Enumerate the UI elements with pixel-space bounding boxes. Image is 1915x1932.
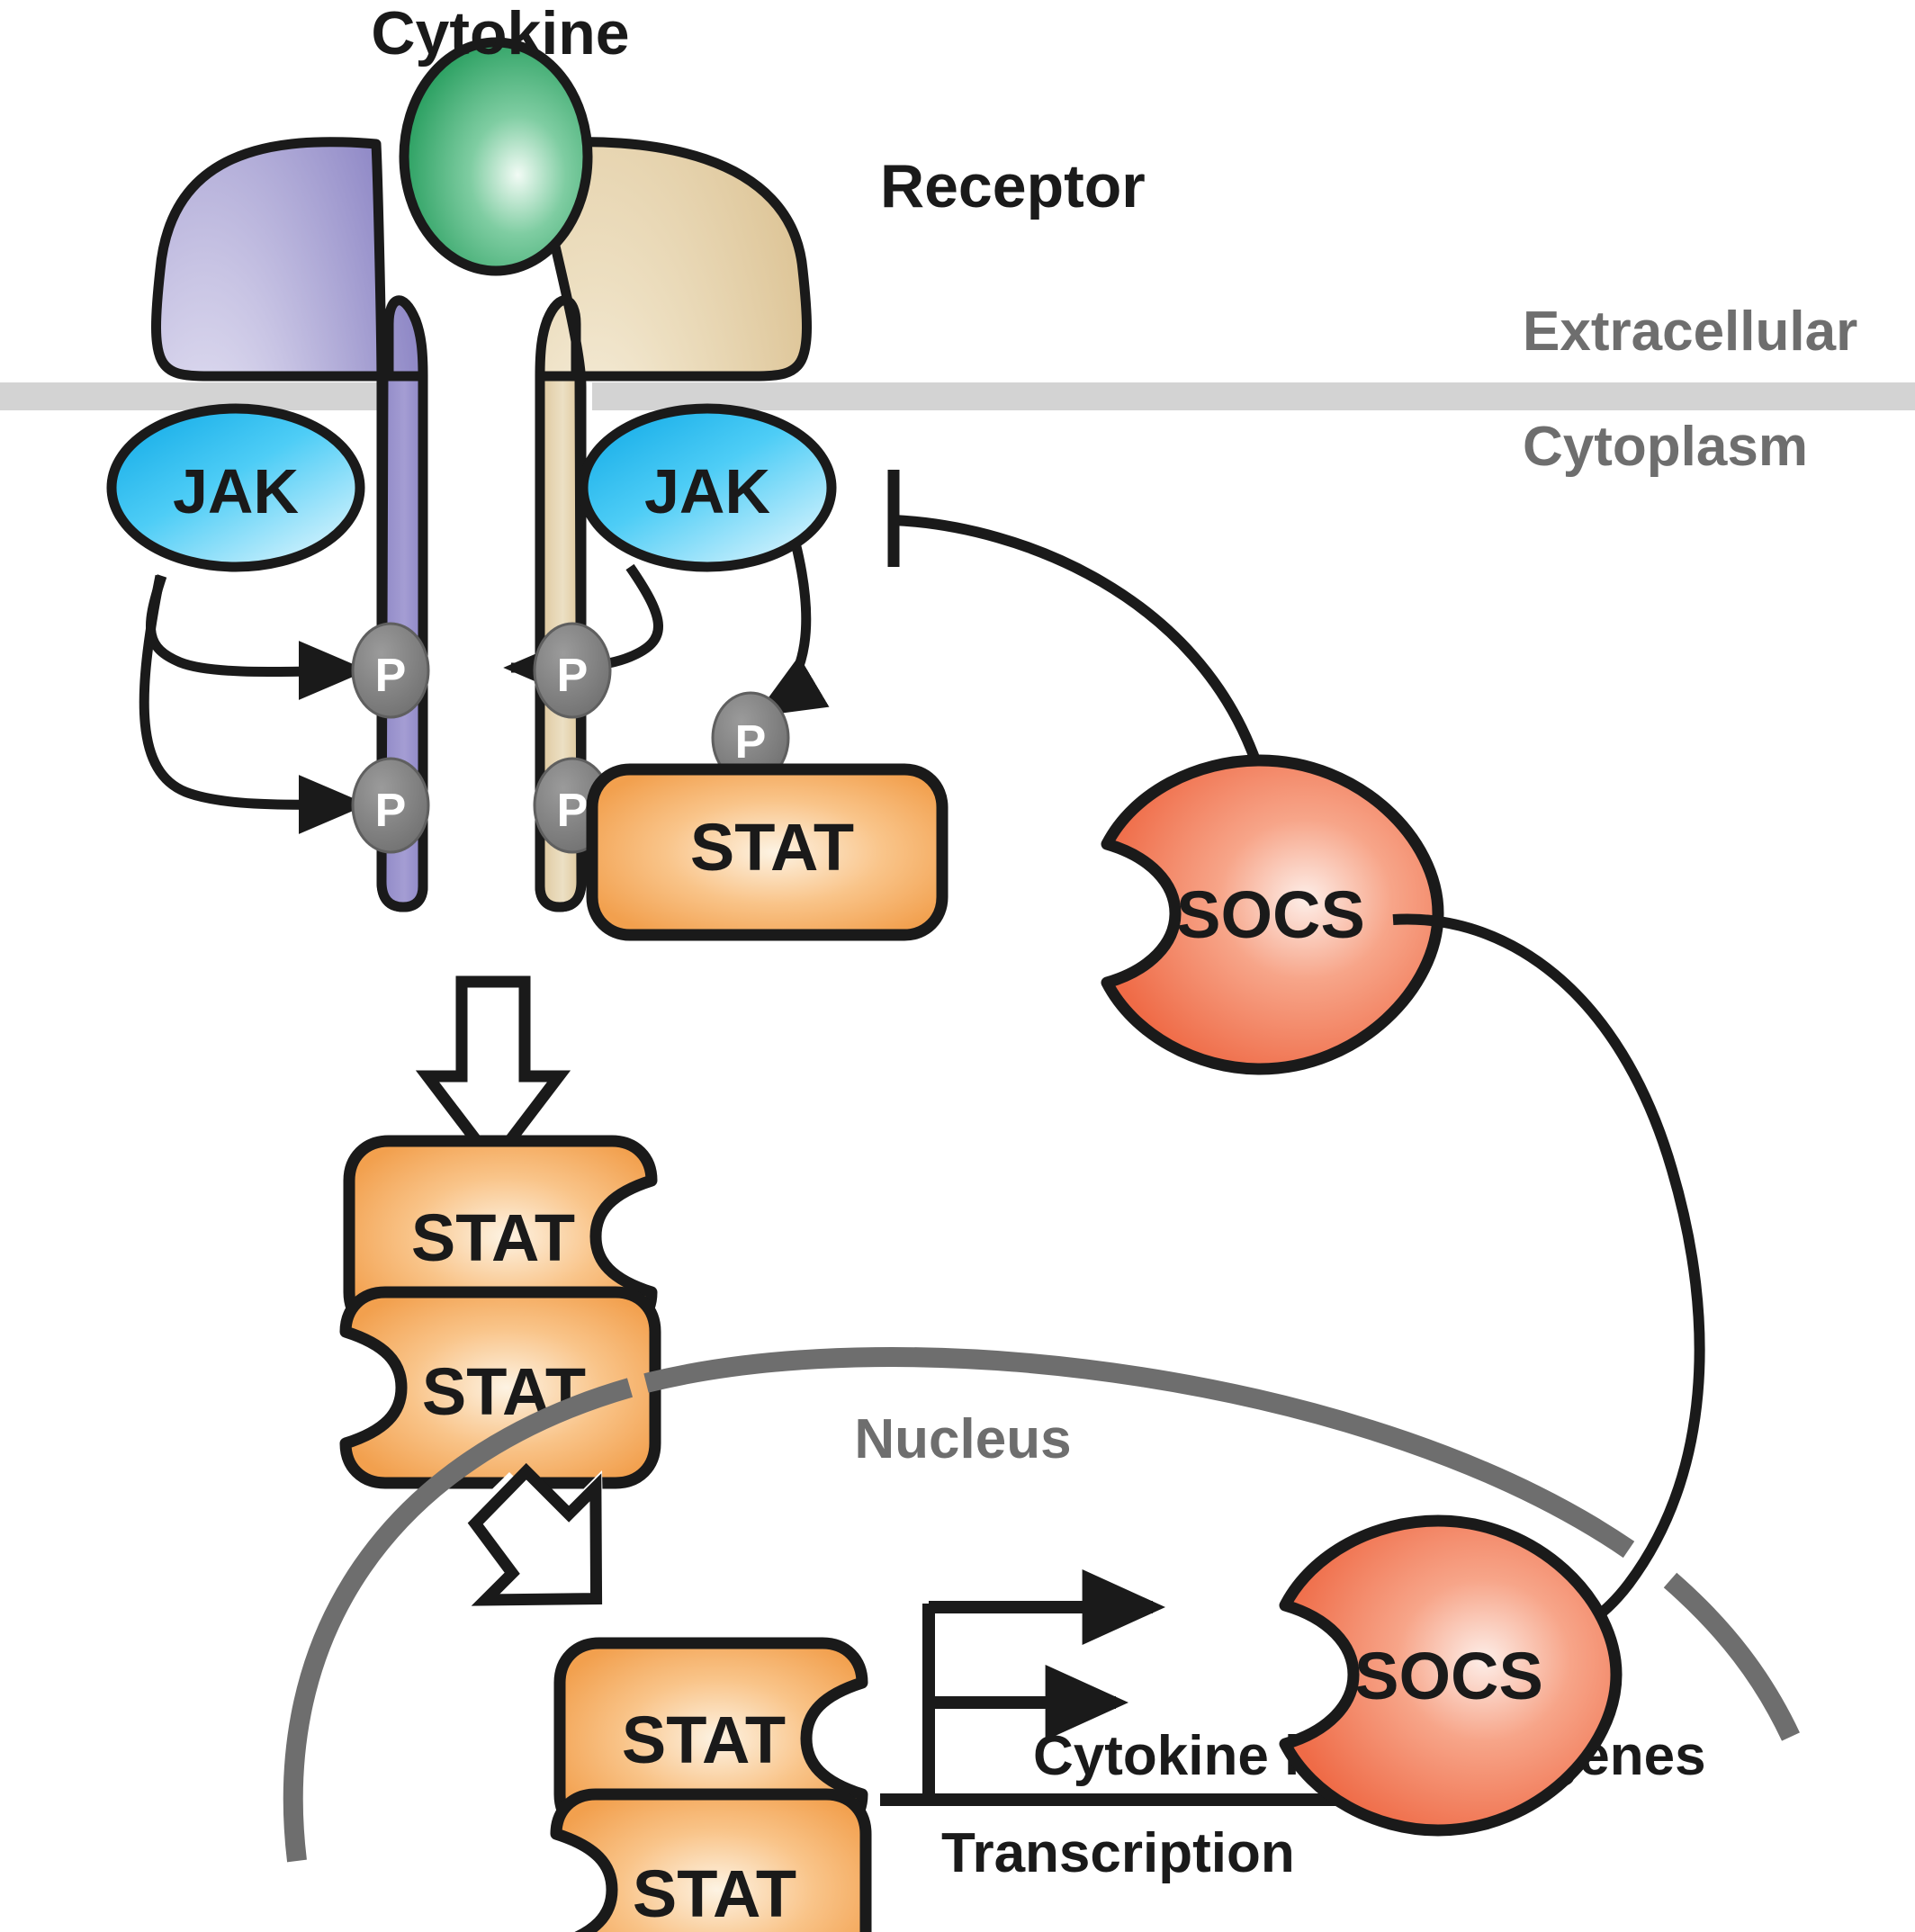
phosphate-receptor-right-upper: P <box>535 624 610 717</box>
stat-receptor-bound-label: STAT <box>690 810 854 885</box>
socs-cytoplasm-label: SOCS <box>1176 877 1365 952</box>
jak-left-label: JAK <box>173 456 299 526</box>
plasma-membrane-icon <box>0 382 1915 410</box>
socs-nucleus: SOCS <box>1285 1521 1616 1830</box>
phosphate-receptor-left-lower: P <box>353 759 428 852</box>
receptor-label: Receptor <box>880 152 1146 220</box>
phosphate-label: P <box>557 785 589 837</box>
transcription-label: Transcription <box>941 1822 1295 1884</box>
jak-left: JAK <box>112 409 360 567</box>
cytokine-molecule <box>404 42 588 271</box>
stat-receptor-bound: STAT <box>592 769 942 935</box>
phosphate-receptor-left-upper: P <box>353 624 428 717</box>
cytokine-label: Cytokine <box>371 0 629 67</box>
stat-dimer-nucleus: STAT STAT <box>556 1643 866 1932</box>
stat-dimer-nuc-bottom-label: STAT <box>633 1856 796 1931</box>
stat-dimer-cyto-top-label: STAT <box>411 1200 575 1275</box>
phosphate-label: P <box>375 785 407 837</box>
pathway-diagram: Cytokine Receptor Extracellular Cytoplas… <box>0 0 1915 1932</box>
phosphorylation-arrow-icon <box>144 576 360 804</box>
phosphate-label: P <box>735 716 767 768</box>
jak-right-label: JAK <box>644 456 770 526</box>
extracellular-label: Extracellular <box>1523 301 1857 363</box>
cytoplasm-label: Cytoplasm <box>1523 416 1808 478</box>
stat-dimer-nuc-top-label: STAT <box>622 1703 786 1777</box>
jak-right: JAK <box>583 409 832 567</box>
phosphate-label: P <box>375 650 407 702</box>
inhibition-tbar-icon <box>894 470 1255 760</box>
nucleus-label: Nucleus <box>854 1408 1071 1470</box>
socs-cytoplasm: SOCS <box>1107 760 1438 1069</box>
socs-nucleus-label: SOCS <box>1354 1639 1543 1713</box>
phosphate-label: P <box>557 650 589 702</box>
